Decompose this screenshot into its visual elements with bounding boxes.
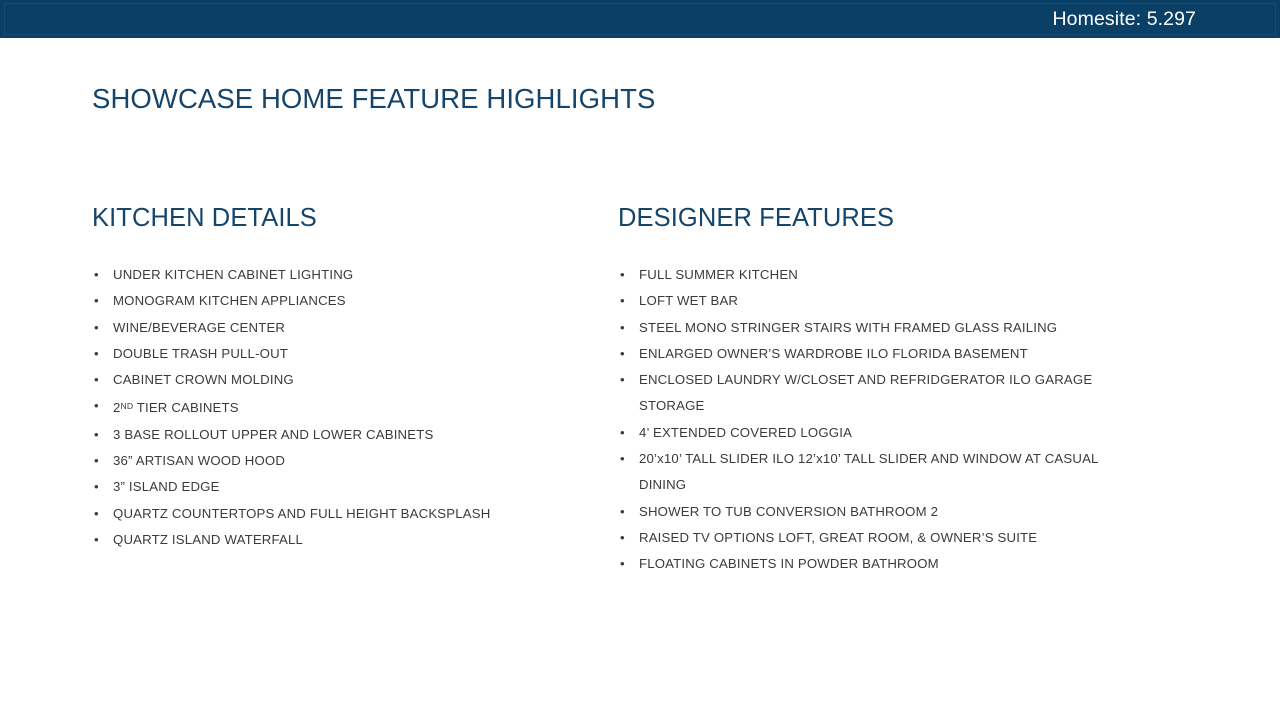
page-title: SHOWCASE HOME FEATURE HIGHLIGHTS [92, 82, 655, 116]
list-item: 36” ARTISAN WOOD HOOD [92, 448, 592, 474]
list-item: QUARTZ ISLAND WATERFALL [92, 527, 592, 553]
list-item: FULL SUMMER KITCHEN [618, 262, 1138, 288]
kitchen-details-heading: KITCHEN DETAILS [92, 202, 592, 234]
list-item-text: 2 [113, 401, 121, 416]
list-item: DOUBLE TRASH PULL-OUT [92, 341, 592, 367]
list-item: MONOGRAM KITCHEN APPLIANCES [92, 288, 592, 314]
list-item: CABINET CROWN MOLDING [92, 367, 592, 393]
list-item-text-suffix: TIER CABINETS [133, 401, 239, 416]
list-item: STEEL MONO STRINGER STAIRS WITH FRAMED G… [618, 315, 1138, 341]
list-item: UNDER KITCHEN CABINET LIGHTING [92, 262, 592, 288]
list-item: ENLARGED OWNER’S WARDROBE ILO FLORIDA BA… [618, 341, 1138, 367]
slide-header-bar: Homesite: 5.297 [0, 0, 1280, 38]
designer-features-column: DESIGNER FEATURES FULL SUMMER KITCHENLOF… [618, 202, 1138, 578]
list-item: SHOWER TO TUB CONVERSION BATHROOM 2 [618, 499, 1138, 525]
kitchen-details-column: KITCHEN DETAILS UNDER KITCHEN CABINET LI… [92, 202, 592, 553]
list-item: 3” ISLAND EDGE [92, 474, 592, 500]
list-item: FLOATING CABINETS IN POWDER BATHROOM [618, 551, 1138, 577]
list-item: QUARTZ COUNTERTOPS AND FULL HEIGHT BACKS… [92, 501, 592, 527]
list-item: 4’ EXTENDED COVERED LOGGIA [618, 420, 1138, 446]
list-item: WINE/BEVERAGE CENTER [92, 315, 592, 341]
homesite-label: Homesite: 5.297 [1053, 6, 1197, 32]
kitchen-details-list: UNDER KITCHEN CABINET LIGHTINGMONOGRAM K… [92, 262, 592, 553]
list-item: LOFT WET BAR [618, 288, 1138, 314]
list-item: ENCLOSED LAUNDRY W/CLOSET AND REFRIDGERA… [618, 367, 1138, 420]
designer-features-heading: DESIGNER FEATURES [618, 202, 1138, 234]
list-item: 2ND TIER CABINETS [92, 393, 592, 421]
list-item: RAISED TV OPTIONS LOFT, GREAT ROOM, & OW… [618, 525, 1138, 551]
designer-features-list: FULL SUMMER KITCHENLOFT WET BARSTEEL MON… [618, 262, 1138, 578]
list-item: 20’x10’ TALL SLIDER ILO 12’x10’ TALL SLI… [618, 446, 1138, 499]
list-item: 3 BASE ROLLOUT UPPER AND LOWER CABINETS [92, 422, 592, 448]
list-item-superscript: ND [121, 401, 134, 411]
